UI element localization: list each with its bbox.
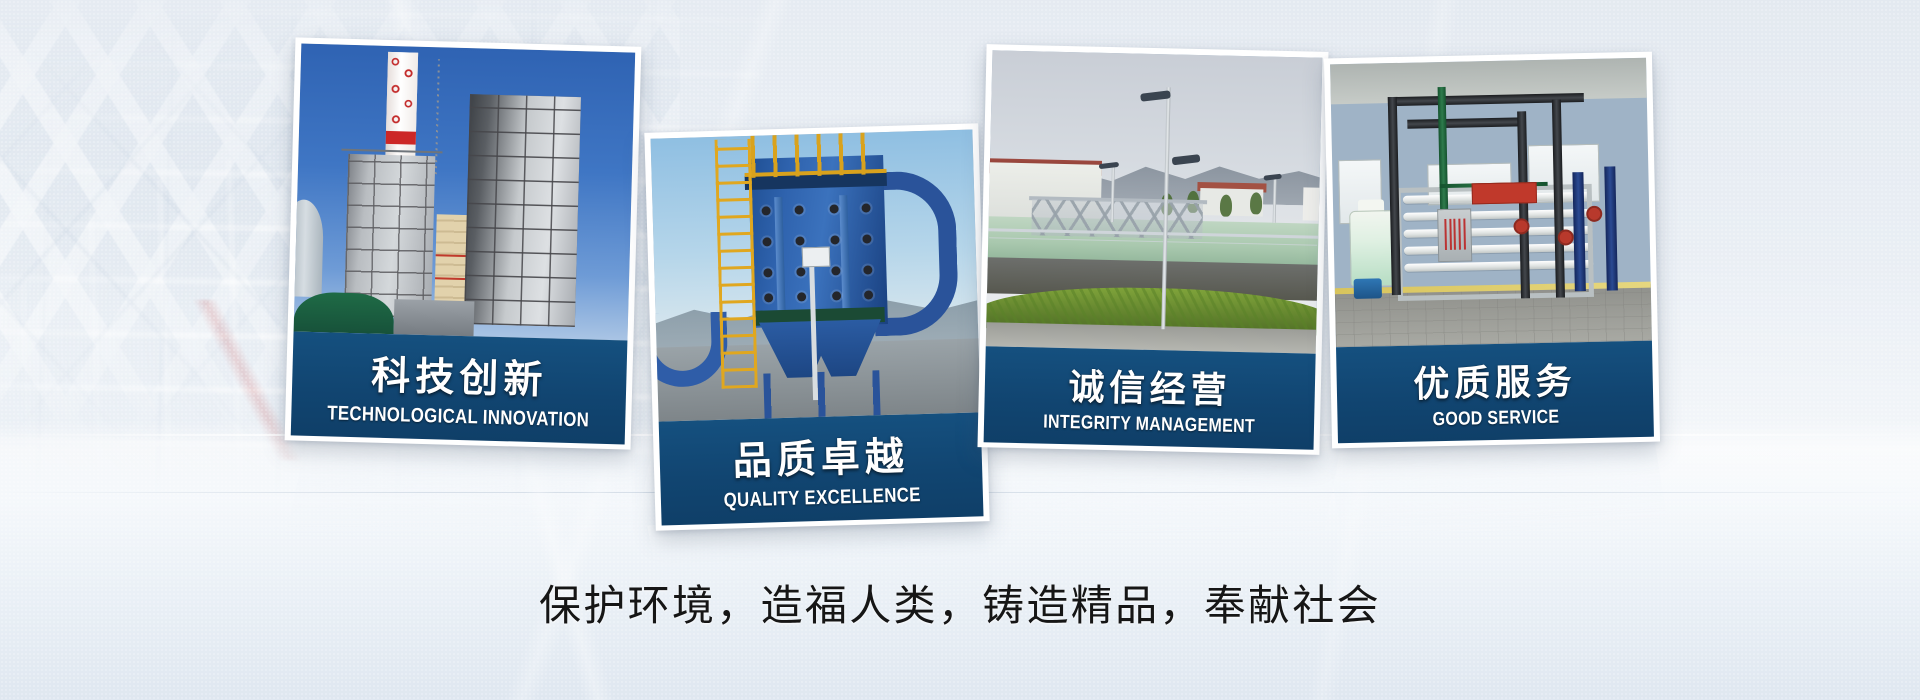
- photo-equipment-box: [394, 300, 475, 337]
- photo-blue-pipe: [1604, 166, 1618, 291]
- panel-title-cn: 科技创新: [371, 345, 549, 406]
- panel-title-cn: 优质服务: [1413, 352, 1577, 407]
- panel-reflection-4: [1326, 434, 1671, 545]
- panel-title-en: TECHNOLOGICAL INNOVATION: [327, 402, 589, 432]
- photo-instrument-box: [802, 247, 831, 268]
- photo-nozzle: [796, 267, 805, 276]
- panel-title-cn: 诚信经营: [1068, 358, 1232, 414]
- panel-title-en: INTEGRITY MANAGEMENT: [1043, 412, 1255, 439]
- photo-chimney-red-band: [385, 131, 415, 145]
- photo-control-panel: [1437, 209, 1472, 263]
- photo-nozzle: [830, 204, 839, 213]
- value-panel-technological-innovation[interactable]: 科技创新 TECHNOLOGICAL INNOVATION: [285, 37, 642, 449]
- panel-reflection-3: [977, 439, 1341, 558]
- panel-title-cn: 品质卓越: [732, 425, 910, 486]
- photo-tree: [1220, 195, 1232, 217]
- photo-red-warning-sign: [1472, 182, 1538, 205]
- banner-stage: 科技创新 TECHNOLOGICAL INNOVATION: [0, 0, 1920, 700]
- photo-building-far-right: [1302, 188, 1322, 221]
- panel-caption-bar: 优质服务 GOOD SERVICE: [1336, 341, 1654, 444]
- photo-caged-ladder: [715, 139, 758, 389]
- wastewater-treatment-plant-photo: [986, 50, 1323, 353]
- value-panel-good-service[interactable]: 优质服务 GOOD SERVICE: [1324, 52, 1660, 449]
- value-panel-integrity-management[interactable]: 诚信经营 INTEGRITY MANAGEMENT: [977, 44, 1328, 455]
- photo-valve-handwheel: [1586, 206, 1602, 222]
- value-panel-quality-excellence[interactable]: 品质卓越 QUALITY EXCELLENCE: [644, 123, 989, 530]
- photo-nozzle: [795, 236, 804, 245]
- photo-tree: [1250, 192, 1262, 214]
- photo-nozzle: [794, 205, 803, 214]
- photo-chimney-pattern: [386, 52, 418, 133]
- dust-collector-baghouse-photo: [651, 129, 981, 421]
- photo-structure-right: [464, 94, 580, 327]
- photo-support-legs: [764, 370, 881, 419]
- panel-title-en: QUALITY EXCELLENCE: [723, 484, 921, 513]
- banner-tagline: 保护环境，造福人类，铸造精品，奉献社会: [0, 572, 1920, 633]
- photo-green-pipe: [1438, 87, 1449, 217]
- panel-title-en: GOOD SERVICE: [1432, 407, 1559, 432]
- industrial-plant-stack-photo: [294, 44, 636, 341]
- reverse-osmosis-water-system-photo: [1330, 58, 1652, 348]
- panel-caption-bar: 科技创新 TECHNOLOGICAL INNOVATION: [291, 331, 628, 444]
- panel-reflection-1: [284, 433, 654, 552]
- panel-caption-bar: 诚信经营 INTEGRITY MANAGEMENT: [984, 346, 1316, 449]
- photo-overhead-pipe: [1407, 117, 1521, 128]
- photo-dosing-pump: [1354, 278, 1383, 298]
- panel-caption-bar: 品质卓越 QUALITY EXCELLENCE: [659, 412, 984, 525]
